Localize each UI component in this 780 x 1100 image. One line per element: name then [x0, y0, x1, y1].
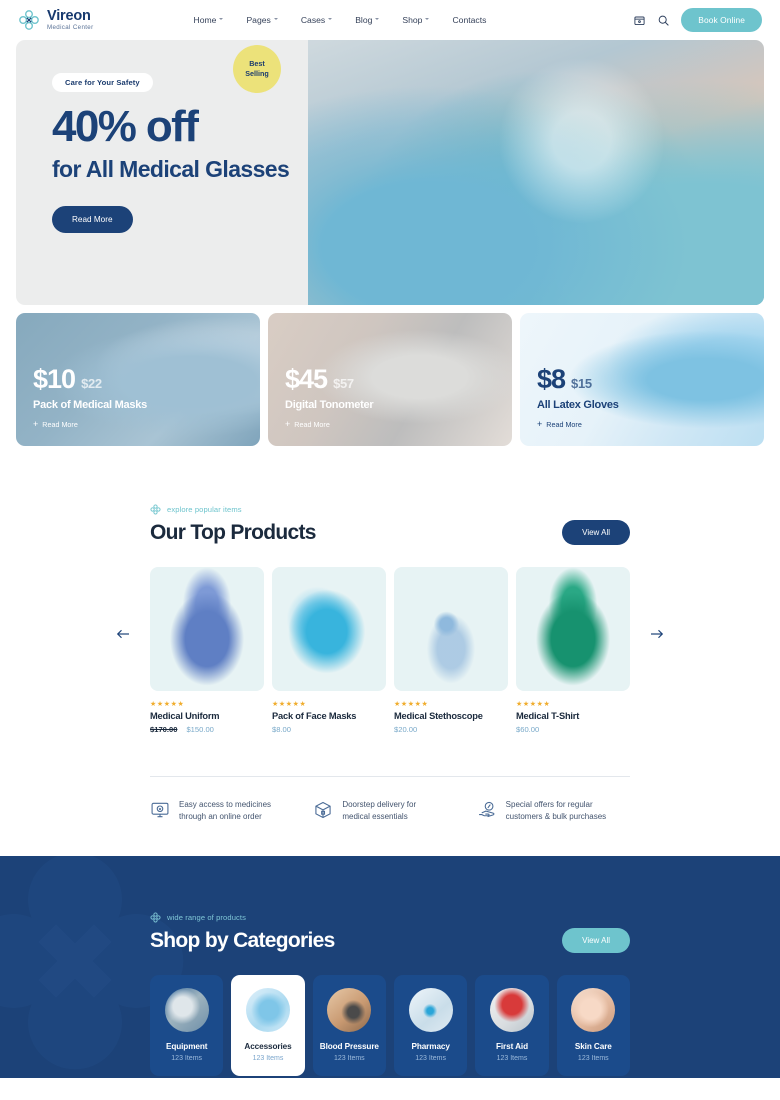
product-old-price: $170.00: [150, 725, 177, 734]
feature-doorstep-delivery: Doorstep delivery for medical essentials: [313, 799, 466, 824]
features-strip: Easy access to medicines through an onli…: [150, 799, 630, 824]
monitor-heart-icon: [150, 800, 170, 820]
product-price: $8.00: [272, 725, 291, 734]
site-header: Vireon Medical Center Home Pages Cases B…: [0, 0, 780, 40]
category-item-count: 123 Items: [319, 1055, 380, 1062]
arrow-left-icon[interactable]: [114, 625, 132, 643]
promo-title: Digital Tonometer: [285, 399, 373, 411]
products-view-all-button[interactable]: View All: [562, 520, 630, 545]
clover-accent-icon: [150, 912, 161, 923]
product-name: Medical T-Shirt: [516, 711, 630, 721]
feature-line-2: through an online order: [179, 812, 262, 821]
category-name: Equipment: [156, 1042, 217, 1051]
hero-read-more-button[interactable]: Read More: [52, 206, 133, 233]
category-item-count: 123 Items: [481, 1055, 542, 1062]
promo-read-more-link[interactable]: + Read More: [285, 420, 373, 429]
product-card-medical-t-shirt[interactable]: ★★★★★ Medical T-Shirt $60.00: [516, 567, 630, 734]
header-actions: Book Online: [633, 8, 762, 32]
chevron-down-icon: [328, 18, 333, 23]
category-thumbnail: [165, 988, 209, 1032]
nav-item-home[interactable]: Home: [194, 15, 225, 25]
category-thumbnail: [409, 988, 453, 1032]
hero-pill-badge: Care for Your Safety: [52, 73, 153, 92]
feature-line-2: medical essentials: [342, 812, 407, 821]
category-item-count: 123 Items: [237, 1055, 298, 1062]
hero-subheadline: for All Medical Glasses: [52, 156, 308, 182]
hero-image: [308, 40, 764, 305]
nav-item-contacts[interactable]: Contacts: [452, 15, 486, 25]
categories-eyebrow: wide range of products: [150, 912, 630, 923]
promo-price: $8: [537, 366, 565, 393]
feature-line-2: customers & bulk purchases: [506, 812, 607, 821]
category-list: Equipment 123 Items Accessories 123 Item…: [150, 975, 630, 1076]
nav-label: Pages: [246, 15, 270, 25]
hero-content: Care for Your Safety 40% off for All Med…: [16, 40, 308, 305]
brand-tagline: Medical Center: [47, 25, 94, 32]
category-item-count: 123 Items: [156, 1055, 217, 1062]
main-navigation: Home Pages Cases Blog Shop Contacts: [194, 15, 487, 25]
product-image: [516, 567, 630, 691]
clover-logo-icon: [18, 9, 40, 31]
feature-special-offers: Special offers for regular customers & b…: [477, 799, 630, 824]
categories-title: Shop by Categories: [150, 929, 335, 953]
category-card-first-aid[interactable]: First Aid 123 Items: [475, 975, 548, 1076]
product-card-medical-uniform[interactable]: ★★★★★ Medical Uniform $170.00 $150.00: [150, 567, 264, 734]
category-card-pharmacy[interactable]: Pharmacy 123 Items: [394, 975, 467, 1076]
search-icon[interactable]: [657, 14, 670, 27]
badge-line-1: Best: [249, 59, 265, 68]
nav-label: Blog: [355, 15, 372, 25]
category-name: Pharmacy: [400, 1042, 461, 1051]
category-thumbnail: [246, 988, 290, 1032]
promo-cards: $10 $22 Pack of Medical Masks + Read Mor…: [16, 313, 764, 446]
category-card-equipment[interactable]: Equipment 123 Items: [150, 975, 223, 1076]
chevron-down-icon: [375, 18, 380, 23]
product-name: Pack of Face Masks: [272, 711, 386, 721]
chevron-down-icon: [219, 18, 224, 23]
eyebrow-label: wide range of products: [167, 913, 246, 922]
products-eyebrow: explore popular items: [150, 504, 630, 515]
chevron-down-icon: [425, 18, 430, 23]
nav-label: Contacts: [452, 15, 486, 25]
plus-icon: +: [537, 420, 542, 429]
promo-card-latex-gloves[interactable]: $8 $15 All Latex Gloves + Read More: [520, 313, 764, 446]
section-divider: [150, 776, 630, 777]
categories-view-all-button[interactable]: View All: [562, 928, 630, 953]
promo-price: $10: [33, 366, 75, 393]
cart-icon[interactable]: [633, 14, 646, 27]
nav-item-blog[interactable]: Blog: [355, 15, 380, 25]
promo-card-digital-tonometer[interactable]: $45 $57 Digital Tonometer + Read More: [268, 313, 512, 446]
category-item-count: 123 Items: [563, 1055, 624, 1062]
chevron-down-icon: [274, 18, 279, 23]
promo-old-price: $22: [81, 376, 102, 391]
category-thumbnail: [327, 988, 371, 1032]
nav-label: Cases: [301, 15, 325, 25]
category-card-skin-care[interactable]: Skin Care 123 Items: [557, 975, 630, 1076]
top-products-section: explore popular items Our Top Products V…: [0, 504, 780, 824]
category-card-accessories[interactable]: Accessories 123 Items: [231, 975, 304, 1076]
product-price: $150.00: [186, 725, 213, 734]
promo-read-more-link[interactable]: + Read More: [537, 420, 619, 429]
nav-label: Shop: [402, 15, 422, 25]
promo-read-more-link[interactable]: + Read More: [33, 420, 147, 429]
nav-item-shop[interactable]: Shop: [402, 15, 430, 25]
promo-link-label: Read More: [42, 420, 78, 429]
category-name: Blood Pressure: [319, 1042, 380, 1051]
product-price: $20.00: [394, 725, 417, 734]
plus-icon: +: [33, 420, 38, 429]
product-rating: ★★★★★: [272, 700, 386, 708]
promo-title: All Latex Gloves: [537, 399, 619, 411]
category-thumbnail: [571, 988, 615, 1032]
products-title: Our Top Products: [150, 521, 316, 545]
product-price: $60.00: [516, 725, 539, 734]
promo-link-label: Read More: [546, 420, 582, 429]
feature-line-1: Easy access to medicines: [179, 800, 271, 809]
product-rating: ★★★★★: [394, 700, 508, 708]
book-online-button[interactable]: Book Online: [681, 8, 762, 32]
category-thumbnail: [490, 988, 534, 1032]
product-name: Medical Stethoscope: [394, 711, 508, 721]
brand-logo[interactable]: Vireon Medical Center: [18, 9, 94, 32]
clover-accent-icon: [150, 504, 161, 515]
promo-price: $45: [285, 366, 327, 393]
category-item-count: 123 Items: [400, 1055, 461, 1062]
package-box-icon: [313, 800, 333, 820]
promo-old-price: $15: [571, 376, 592, 391]
plus-icon: +: [285, 420, 290, 429]
products-carousel: ★★★★★ Medical Uniform $170.00 $150.00 ★★…: [150, 567, 630, 734]
feature-line-1: Special offers for regular: [506, 800, 593, 809]
categories-section: wide range of products Shop by Categorie…: [0, 856, 780, 1078]
category-name: Skin Care: [563, 1042, 624, 1051]
nav-item-cases[interactable]: Cases: [301, 15, 333, 25]
hero-headline: 40% off: [52, 105, 308, 149]
category-card-blood-pressure[interactable]: Blood Pressure 123 Items: [313, 975, 386, 1076]
nav-item-pages[interactable]: Pages: [246, 15, 278, 25]
badge-line-2: Selling: [245, 69, 269, 78]
feature-line-1: Doorstep delivery for: [342, 800, 416, 809]
product-image: [394, 567, 508, 691]
product-rating: ★★★★★: [150, 700, 264, 708]
promo-card-medical-masks[interactable]: $10 $22 Pack of Medical Masks + Read Mor…: [16, 313, 260, 446]
category-name: First Aid: [481, 1042, 542, 1051]
eyebrow-label: explore popular items: [167, 505, 242, 514]
product-name: Medical Uniform: [150, 711, 264, 721]
product-card-pack-of-face-masks[interactable]: ★★★★★ Pack of Face Masks $8.00: [272, 567, 386, 734]
product-image: [272, 567, 386, 691]
category-name: Accessories: [237, 1042, 298, 1051]
promo-old-price: $57: [333, 376, 354, 391]
product-image: [150, 567, 264, 691]
hand-percent-icon: [477, 800, 497, 820]
brand-name: Vireon: [47, 9, 94, 24]
arrow-right-icon[interactable]: [648, 625, 666, 643]
nav-label: Home: [194, 15, 217, 25]
best-selling-badge: Best Selling: [233, 45, 281, 93]
promo-link-label: Read More: [294, 420, 330, 429]
product-rating: ★★★★★: [516, 700, 630, 708]
product-card-medical-stethoscope[interactable]: ★★★★★ Medical Stethoscope $20.00: [394, 567, 508, 734]
feature-online-order: Easy access to medicines through an onli…: [150, 799, 303, 824]
hero-banner: Care for Your Safety 40% off for All Med…: [16, 40, 764, 305]
promo-title: Pack of Medical Masks: [33, 399, 147, 411]
